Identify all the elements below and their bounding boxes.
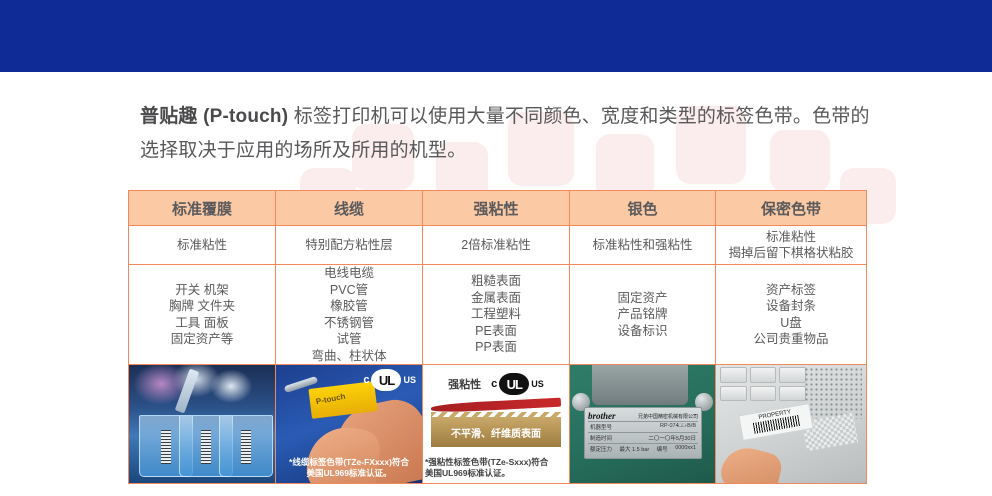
plate-value: 二〇一〇年5月30日 [648,434,696,442]
rough-surface-shape: 不平滑、纤维质表面 [431,417,561,447]
header-cell-2: 强粘性 [423,191,570,226]
ul-roundel: UL [371,369,401,391]
ul-c-letter: c [363,374,369,386]
content-stage: 普贴趣 (P-touch) 标签打印机可以使用大量不同颜色、宽度和类型的标签色带… [0,72,992,496]
test-tube-icon [174,369,198,414]
table-header-row: 标准覆膜 线缆 强粘性 银色 保密色带 [129,191,867,226]
plate-row: 额定压力 最大 1.5 bar 编号 0000xx1 [588,443,698,454]
ul-us-letters: US [531,379,544,389]
adhesion-row: 标准粘性 特别配方粘性层 2倍标准粘性 标准粘性和强粘性 标准粘性 揭掉后留下棋… [129,226,867,265]
plate-value: RP-074□□-B/B [660,423,696,431]
plate-key: 额定压力 [590,445,612,453]
header-cell-3: 银色 [570,191,716,226]
nameplate-photo: brother 兄弟中国精密机械有限公司 机器型号 RP-074□□-B/B 制… [570,365,715,483]
strong-caption: *强粘性标签色带(TZe-Sxxx)符合 美国UL969标准认证。 [425,457,569,479]
image-cell-security: PROPERTY [716,365,867,484]
image-cell-silver: brother 兄弟中国精密机械有限公司 机器型号 RP-074□□-B/B 制… [570,365,716,484]
beaker-icon [219,415,273,477]
header-cell-4: 保密色带 [716,191,867,226]
uses-cell-3: 固定资产 产品铭牌 设备标识 [570,265,716,365]
adhesion-cell-2: 2倍标准粘性 [423,226,570,265]
images-row: P-touch c UL US *线缆标签色带(TZe-FXxxx)符合 美国U… [129,365,867,484]
uses-cell-1: 电线电缆 PVC管 橡胶管 不锈钢管 试管 弯曲、柱状体 [276,265,423,365]
ul-c-letter: c [491,378,497,390]
ul-listed-icon: c UL US [491,373,544,395]
machine-block [592,365,688,405]
uses-cell-0: 开关 机架 胸牌 文件夹 工具 面板 固定资产等 [129,265,276,365]
cable-photo: P-touch c UL US *线缆标签色带(TZe-FXxxx)符合 美国U… [276,365,422,483]
ul-roundel: UL [499,373,529,395]
brother-nameplate: brother 兄弟中国精密机械有限公司 机器型号 RP-074□□-B/B 制… [584,407,702,459]
finger-shape [718,443,785,483]
image-cell-laminated [129,365,276,484]
adhesion-cell-4: 标准粘性 揭掉后留下棋格状粘胶 [716,226,867,265]
plate-row: 机器型号 RP-074□□-B/B [588,421,698,432]
plate-value: 最大 1.5 bar [620,445,650,453]
header-cell-1: 线缆 [276,191,423,226]
keyboard-keys [720,367,806,401]
adhesion-cell-1: 特别配方粘性层 [276,226,423,265]
cable-caption: *线缆标签色带(TZe-FXxxx)符合 美国UL969标准认证。 [276,457,422,479]
adhesion-cell-0: 标准粘性 [129,226,276,265]
uses-row: 开关 机架 胸牌 文件夹 工具 面板 固定资产等 电线电缆 PVC管 橡胶管 不… [129,265,867,365]
property-label: PROPERTY [738,403,813,441]
plate-key: 机器型号 [590,423,612,431]
lab-photo [129,365,275,483]
uses-cell-2: 粗糙表面 金属表面 工程塑料 PE表面 PP表面 [423,265,570,365]
plate-company: 兄弟中国精密机械有限公司 [638,413,698,420]
security-label-photo: PROPERTY [716,365,866,483]
header-cell-0: 标准覆膜 [129,191,276,226]
flag-label-text: P-touch [315,392,346,407]
plate-key: 制造时间 [590,434,612,442]
image-cell-strong: 强粘性 c UL US 不平滑、纤维质表面 *强粘性标签色带(TZe-Sxxx)… [423,365,570,484]
top-banner [0,0,992,72]
page-intro: 普贴趣 (P-touch) 标签打印机可以使用大量不同颜色、宽度和类型的标签色带… [140,100,870,168]
surface-label: 不平滑、纤维质表面 [431,425,561,440]
speaker-grille [804,367,862,419]
plate-key: 编号 [657,445,668,453]
uses-cell-4: 资产标签 设备封条 U盘 公司贵重物品 [716,265,867,365]
tape-spec-table: 标准覆膜 线缆 强粘性 银色 保密色带 标准粘性 特别配方粘性层 2倍标准粘性 … [128,190,867,484]
strong-diagram-head: 强粘性 c UL US [423,373,569,395]
brand-name: 普贴趣 (P-touch) [140,106,288,127]
brother-logo: brother [588,411,616,421]
ul-us-letters: US [403,375,416,385]
plate-row: 制造时间 二〇一〇年5月30日 [588,432,698,443]
strong-label: 强粘性 [448,376,481,392]
adhesion-cell-3: 标准粘性和强粘性 [570,226,716,265]
strong-adhesive-diagram: 强粘性 c UL US 不平滑、纤维质表面 *强粘性标签色带(TZe-Sxxx)… [423,365,569,483]
image-cell-cable: P-touch c UL US *线缆标签色带(TZe-FXxxx)符合 美国U… [276,365,423,484]
ul-listed-icon: c UL US [363,369,416,391]
plate-value: 0000xx1 [675,445,696,453]
